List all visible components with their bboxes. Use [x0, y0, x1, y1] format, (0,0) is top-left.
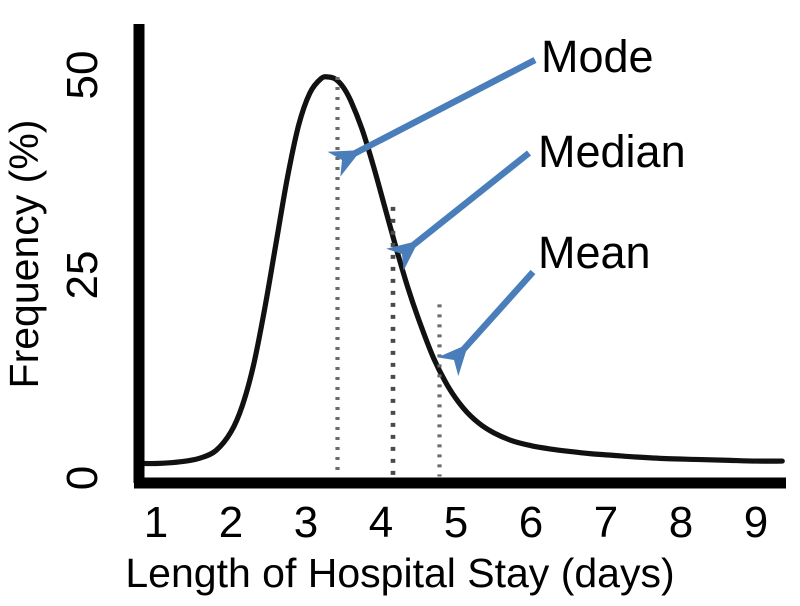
median-callout-label: Median — [538, 129, 686, 174]
x-tick-label-4: 4 — [356, 501, 406, 545]
y-tick-label-50: 50 — [61, 40, 105, 110]
x-tick-label-5: 5 — [431, 501, 481, 545]
x-tick-label-7: 7 — [581, 501, 631, 545]
y-tick-label-25: 25 — [61, 240, 105, 310]
x-tick-label-3: 3 — [281, 501, 331, 545]
chart-figure: 50 25 0 Frequency (%) 1 2 3 4 5 6 7 8 9 … — [0, 0, 800, 606]
median-callout-arrow — [402, 153, 529, 254]
mode-callout-arrow — [342, 60, 535, 160]
x-tick-label-9: 9 — [731, 501, 781, 545]
x-tick-label-2: 2 — [206, 501, 256, 545]
y-tick-label-0: 0 — [61, 443, 105, 513]
distribution-curve — [141, 77, 782, 464]
x-axis-title: Length of Hospital Stay (days) — [0, 553, 800, 594]
mean-callout-label: Mean — [538, 230, 651, 275]
x-tick-label-1: 1 — [131, 501, 181, 545]
mean-callout-arrow — [454, 272, 533, 360]
x-tick-label-8: 8 — [656, 501, 706, 545]
x-tick-label-6: 6 — [506, 501, 556, 545]
y-axis-title: Frequency (%) — [4, 89, 48, 419]
mode-callout-label: Mode — [541, 34, 654, 79]
